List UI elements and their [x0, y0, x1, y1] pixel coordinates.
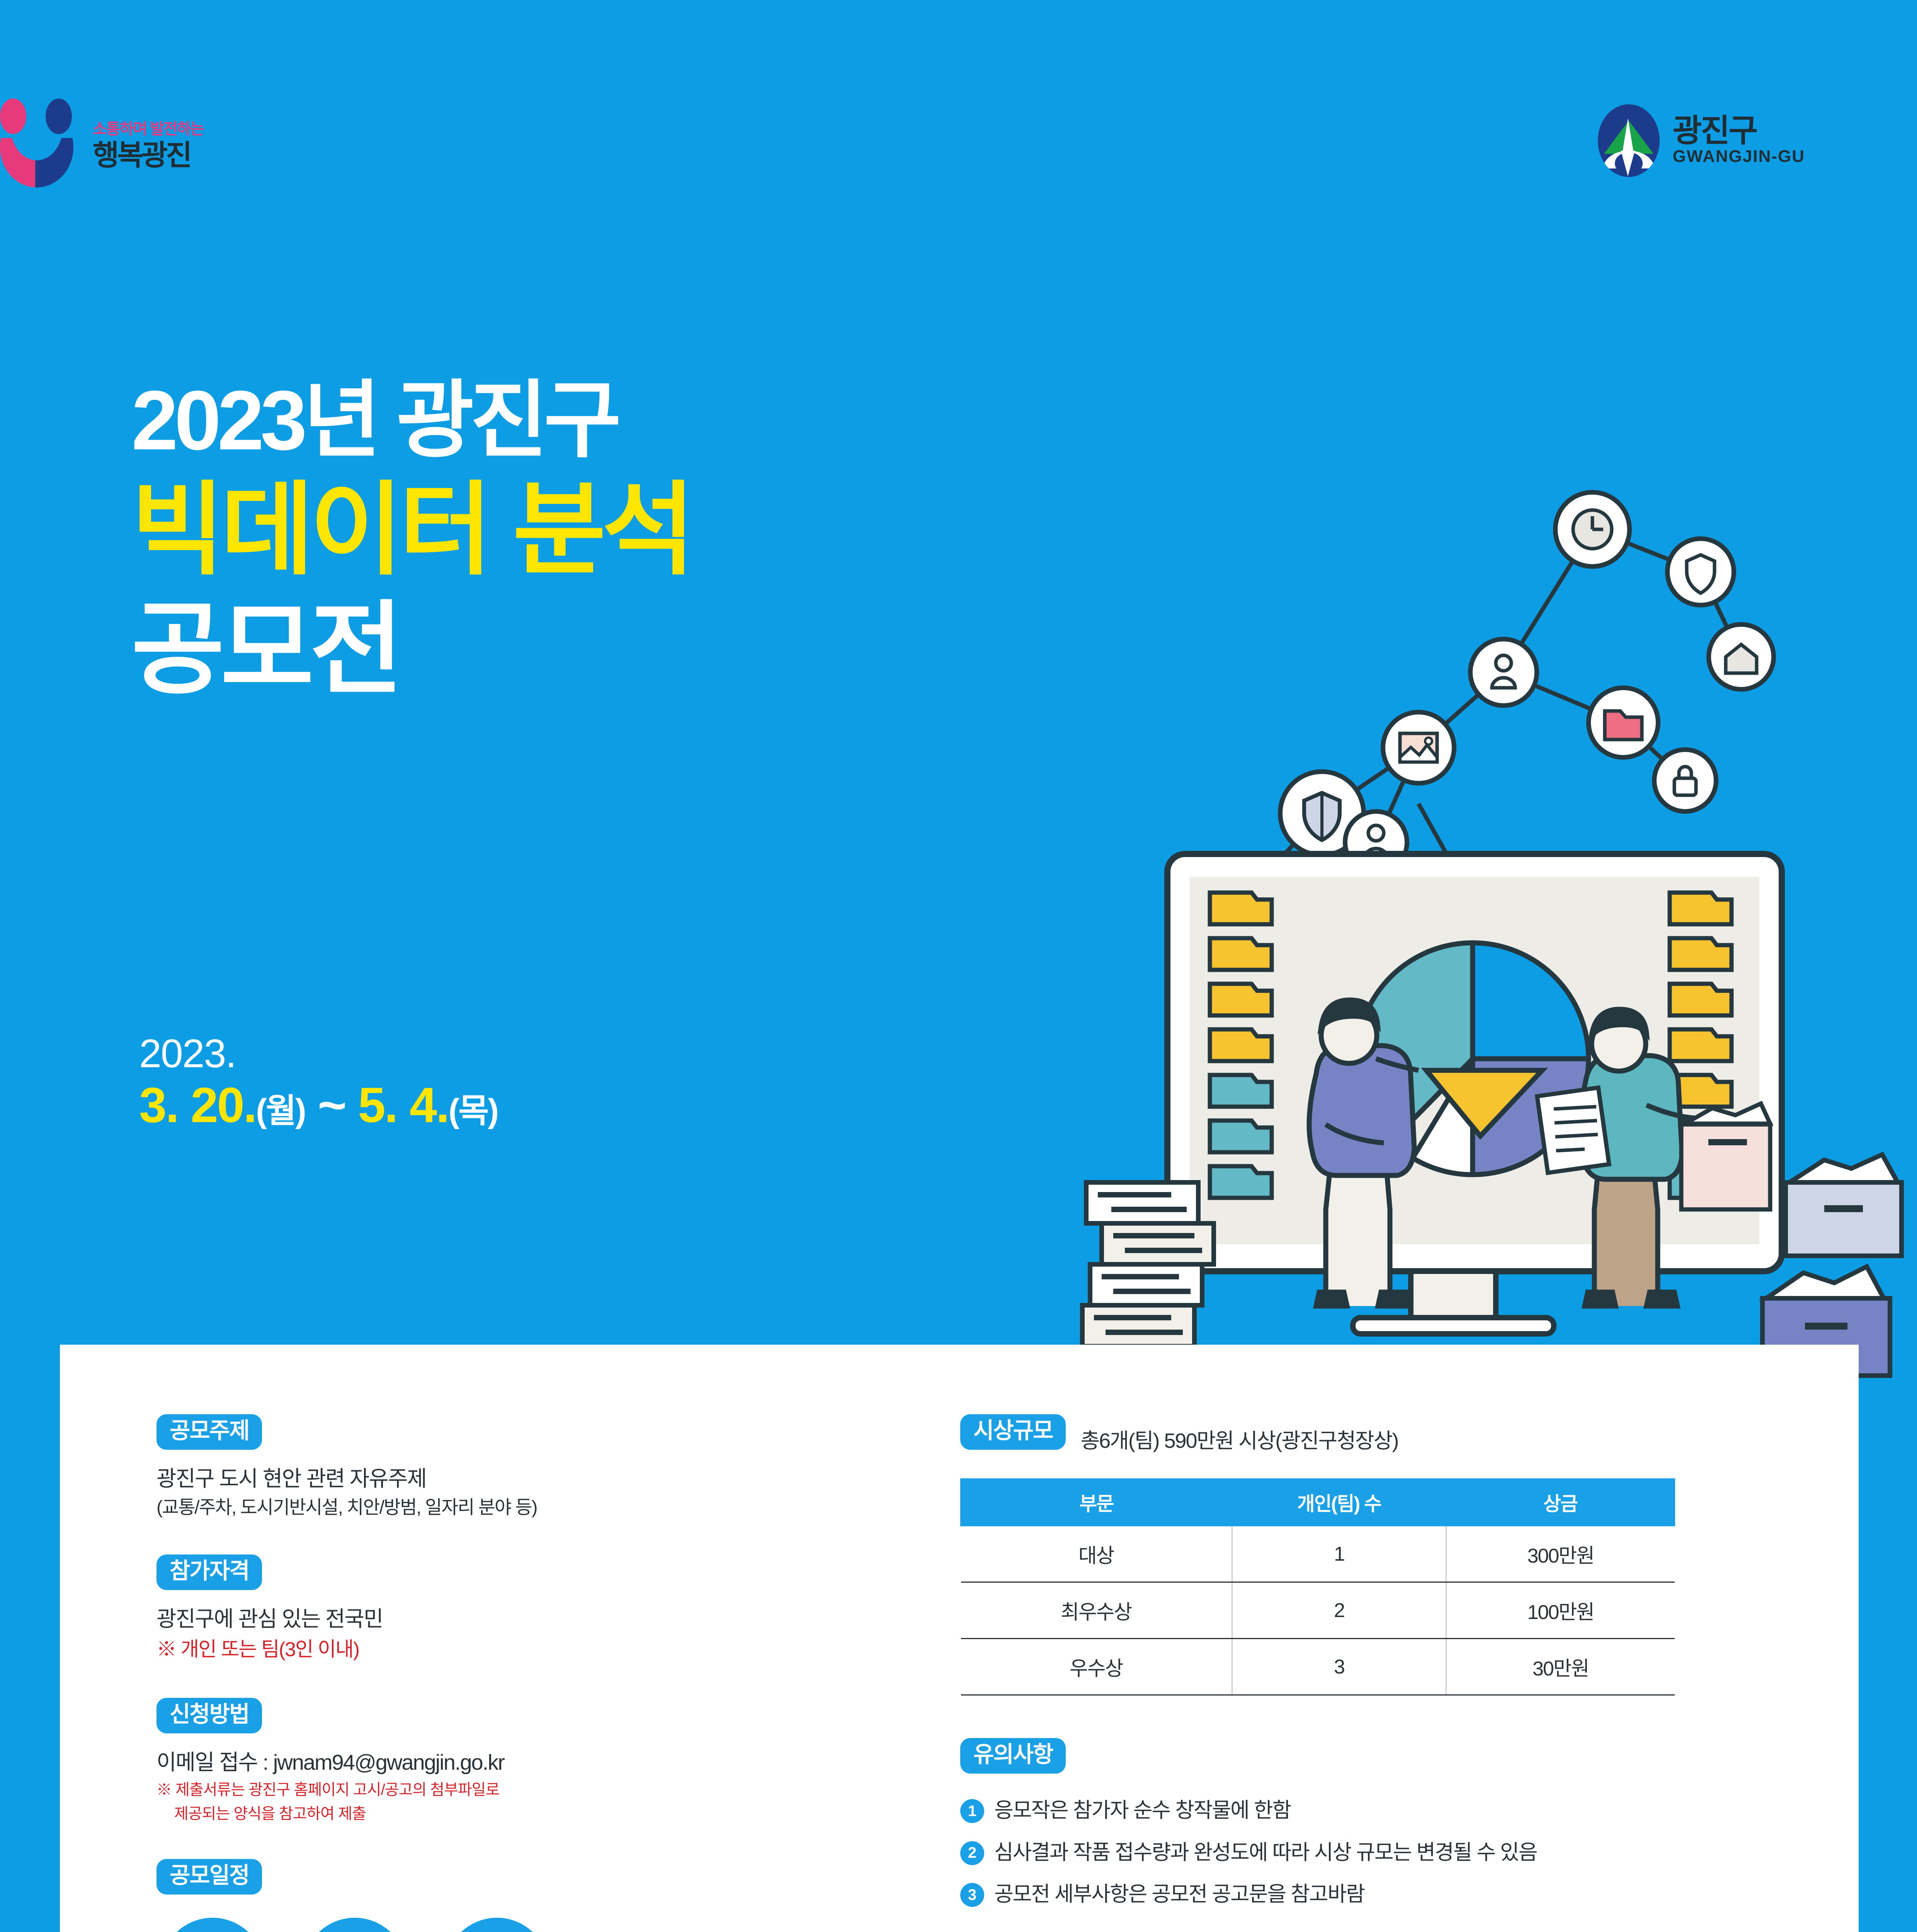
cell-count: 1: [1232, 1526, 1446, 1582]
hero-title-line-3: 공모전: [131, 590, 691, 709]
hero-title-block: 2023년 광진구 빅데이터 분석 공모전: [131, 371, 691, 709]
schedule-stage-label: 모집공고: [156, 1918, 269, 1932]
section-notices: 유의사항 1 응모작은 참가자 순수 창작물에 한함 2 심사결과 작품 접수량…: [960, 1738, 1752, 1909]
hero-date-tilde: ~: [305, 1078, 358, 1133]
cell-category: 대상: [961, 1526, 1232, 1582]
section-apply: 신청방법 이메일 접수 : jwnam94@gwangjin.go.kr ※ 제…: [156, 1698, 891, 1826]
hero-end-date: 5. 4.: [358, 1078, 449, 1133]
column-header-count: 개인(팀) 수: [1232, 1478, 1446, 1526]
happy-logo-tagline: 소통하며 발전하는: [93, 116, 204, 139]
notice-text: 공모전 세부사항은 공모전 공고문을 참고바람: [994, 1880, 1364, 1909]
eligibility-line-1: 광진구에 관심 있는 전국민: [156, 1603, 891, 1634]
table-row: 대상 1 300만원: [961, 1526, 1675, 1582]
cell-category: 우수상: [961, 1639, 1232, 1695]
right-column: 시상규모 총6개(팀) 590만원 시상(광진구청장상) 부문 개인(팀) 수 …: [960, 1414, 1752, 1932]
table-row: 우수상 3 30만원: [961, 1639, 1675, 1695]
gwangjin-gu-logo: 광진구 GWANGJIN-GU: [1598, 104, 1805, 177]
cell-count: 2: [1232, 1582, 1446, 1639]
theme-line-2: (교통/주차, 도시기반시설, 치안/방범, 일자리 분야 등): [156, 1494, 891, 1521]
cell-count: 3: [1232, 1639, 1446, 1695]
eligibility-note: ※ 개인 또는 팀(3인 이내): [156, 1634, 891, 1665]
notices-badge: 유의사항: [960, 1738, 1066, 1774]
hero-date-range: 2023. 3. 20.(월) ~ 5. 4.(목): [139, 1032, 498, 1135]
schedule-stage-label: 접수마감: [299, 1918, 411, 1932]
notice-text: 심사결과 작품 접수량과 완성도에 따라 시상 규모는 변경될 수 있음: [994, 1838, 1537, 1867]
schedule-node-1: 모집공고 3. 20.: [156, 1918, 269, 1932]
left-column: 공모주제 광진구 도시 현안 관련 자유주제 (교통/주차, 도시기반시설, 치…: [156, 1414, 891, 1932]
hero-start-day: (월): [256, 1092, 305, 1129]
schedule-badge: 공모일정: [156, 1859, 262, 1895]
schedule-node-2: 접수마감 5. 4.: [299, 1918, 411, 1932]
column-header-prize: 상금: [1446, 1478, 1674, 1526]
notice-number-badge: 1: [960, 1799, 984, 1823]
table-header-row: 부문 개인(팀) 수 상금: [961, 1478, 1675, 1526]
notice-number-badge: 3: [960, 1883, 984, 1907]
section-theme: 공모주제 광진구 도시 현안 관련 자유주제 (교통/주차, 도시기반시설, 치…: [156, 1414, 891, 1521]
notice-item: 1 응모작은 참가자 순수 창작물에 한함: [960, 1796, 1752, 1825]
hero-title-line-1: 2023년 광진구: [131, 371, 691, 470]
hero-end-day: (목): [449, 1092, 498, 1129]
smile-logo-icon: [0, 99, 77, 187]
info-card: 공모주제 광진구 도시 현안 관련 자유주제 (교통/주차, 도시기반시설, 치…: [60, 1345, 1859, 1932]
cell-prize: 300만원: [1446, 1526, 1674, 1582]
eligibility-badge: 참가자격: [156, 1554, 262, 1590]
happy-logo-name: 행복광진: [93, 141, 204, 170]
notice-item: 3 공모전 세부사항은 공모전 공고문을 참고바람: [960, 1880, 1752, 1909]
notice-number-badge: 2: [960, 1841, 984, 1865]
gwangjin-logo-english: GWANGJIN-GU: [1673, 147, 1805, 166]
gwangjin-logo-korean: 광진구: [1673, 115, 1805, 147]
apply-note-1: ※ 제출서류는 광진구 홈페이지 고시/공고의 첨부파일로: [156, 1778, 891, 1802]
schedule-stage-label: 예선심사: [441, 1918, 553, 1932]
section-eligibility: 참가자격 광진구에 관심 있는 전국민 ※ 개인 또는 팀(3인 이내): [156, 1554, 891, 1665]
section-schedule: 공모일정 모집공고 3. 20. 접수마감 5. 4. 예선심사 5: [156, 1859, 891, 1932]
hero-start-date: 3. 20.: [139, 1078, 256, 1133]
notice-text: 응모작은 참가자 순수 창작물에 한함: [994, 1796, 1291, 1825]
schedule-node-3: 예선심사 5월 중: [441, 1918, 553, 1932]
bigdata-illustration: [1028, 417, 1917, 1383]
schedule-row-1: 모집공고 3. 20. 접수마감 5. 4. 예선심사 5월 중: [156, 1918, 891, 1932]
column-header-category: 부문: [961, 1478, 1232, 1526]
prize-table: 부문 개인(팀) 수 상금 대상 1 300만원 최우수상 2 100만원: [960, 1478, 1675, 1696]
notice-item: 2 심사결과 작품 접수량과 완성도에 따라 시상 규모는 변경될 수 있음: [960, 1838, 1752, 1867]
awards-summary: 총6개(팀) 590만원 시상(광진구청장상): [1080, 1423, 1398, 1454]
hero-title-line-2: 빅데이터 분석: [131, 470, 691, 590]
cell-prize: 30만원: [1446, 1639, 1674, 1695]
table-row: 최우수상 2 100만원: [961, 1582, 1675, 1639]
cell-prize: 100만원: [1446, 1582, 1674, 1639]
gwangjin-emblem-icon: [1598, 104, 1660, 177]
section-awards: 시상규모 총6개(팀) 590만원 시상(광진구청장상) 부문 개인(팀) 수 …: [960, 1414, 1752, 1696]
apply-note-2: 제공되는 양식을 참고하여 제출: [156, 1802, 891, 1826]
header-logo-bar: 소통하며 발전하는 행복광진 광진구 GWANGJIN-GU: [0, 0, 1917, 240]
cell-category: 최우수상: [961, 1582, 1232, 1639]
hero-year: 2023.: [139, 1032, 498, 1076]
apply-badge: 신청방법: [156, 1698, 262, 1733]
apply-email-line: 이메일 접수 : jwnam94@gwangjin.go.kr: [156, 1747, 891, 1778]
happy-gwangjin-logo: 소통하며 발전하는 행복광진: [0, 99, 204, 187]
theme-badge: 공모주제: [156, 1414, 262, 1450]
awards-badge: 시상규모: [960, 1414, 1066, 1450]
theme-line-1: 광진구 도시 현안 관련 자유주제: [156, 1463, 891, 1494]
